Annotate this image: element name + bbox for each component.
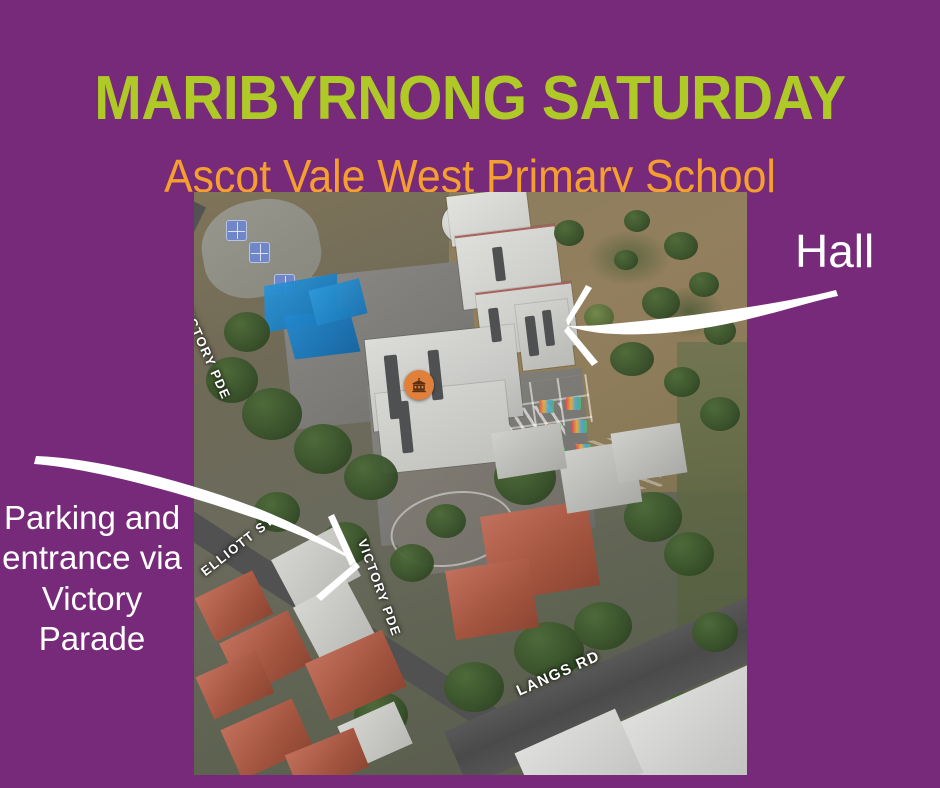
aerial-map[interactable]: VICTORY PDE VICTORY PDE ELLIOTT ST LANGS…: [194, 192, 747, 775]
tree: [664, 232, 698, 260]
school-marker-icon[interactable]: [404, 370, 434, 400]
tree: [704, 317, 736, 345]
court-marker: [249, 242, 270, 263]
tree: [224, 312, 270, 352]
parking-line-3: Victory: [0, 579, 192, 619]
tree: [344, 454, 398, 500]
parking-line-4: Parade: [0, 619, 192, 659]
map-imagery: VICTORY PDE VICTORY PDE ELLIOTT ST LANGS…: [194, 192, 747, 775]
playground-equipment: [572, 420, 587, 433]
tree: [574, 602, 632, 650]
tree: [664, 532, 714, 576]
tree: [642, 287, 680, 319]
tree: [584, 304, 614, 330]
tree: [614, 250, 638, 270]
tree: [610, 342, 654, 376]
tree: [624, 210, 650, 232]
parking-line-2: entrance via: [0, 538, 192, 578]
tree: [692, 612, 738, 652]
parking-line-1: Parking and: [0, 498, 192, 538]
court-marker: [226, 220, 247, 241]
callout-label-hall: Hall: [795, 228, 874, 274]
playground-equipment: [539, 400, 554, 413]
building-roof: [445, 558, 539, 640]
tree: [554, 220, 584, 246]
tree: [700, 397, 740, 431]
callout-label-parking: Parking and entrance via Victory Parade: [0, 498, 192, 659]
page-title: MARIBYRNONG SATURDAY: [38, 66, 903, 131]
tree: [689, 272, 719, 297]
tree: [444, 662, 504, 712]
tree: [294, 424, 352, 474]
tree: [242, 388, 302, 440]
playground-equipment: [566, 397, 581, 410]
poster-canvas: MARIBYRNONG SATURDAY Ascot Vale West Pri…: [0, 0, 940, 788]
tree: [664, 367, 700, 397]
tree: [390, 544, 434, 582]
tree: [426, 504, 466, 538]
